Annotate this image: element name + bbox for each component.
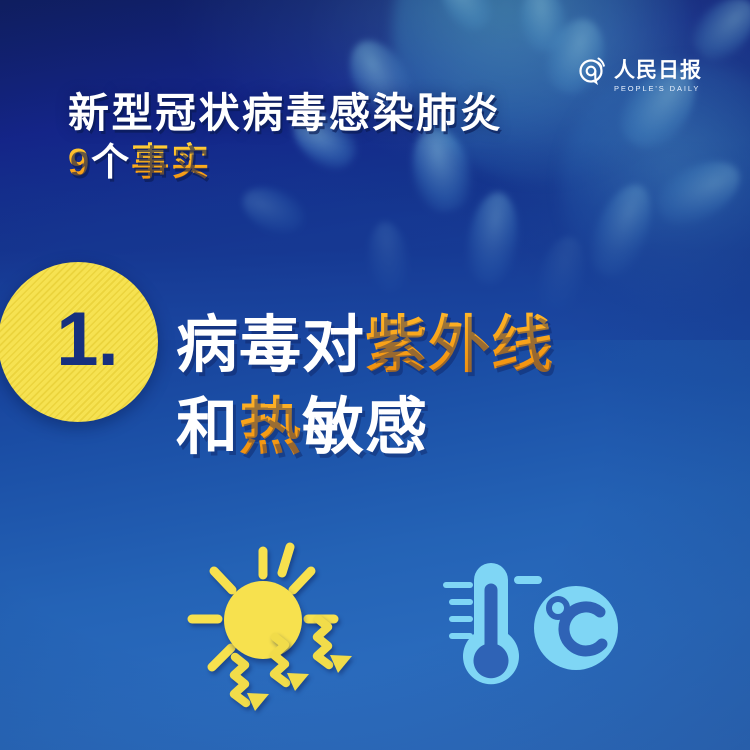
statement-line2-part2: 热: [239, 393, 302, 462]
at-megaphone-icon: [578, 56, 608, 90]
statement-line-1: 病毒对紫外线: [176, 305, 736, 387]
virus-core-blob-secondary: [560, 60, 750, 310]
thermometer-ticks: [446, 585, 470, 636]
sun-uv-rays-icon: [178, 535, 378, 725]
subtitle-number: 9: [68, 142, 91, 184]
logo-english-name: PEOPLE'S DAILY: [614, 85, 702, 93]
statement-line1-part2: 紫外线: [365, 311, 554, 380]
badge-number-label: 1.: [56, 296, 117, 383]
thermometer-celsius-icon: [424, 550, 624, 700]
virus-spike: [364, 220, 411, 294]
main-title: 新型冠状病毒感染肺炎: [68, 92, 568, 135]
subtitle-line: 9个事实: [68, 144, 568, 184]
headline-block: 新型冠状病毒感染肺炎 9个事实: [68, 92, 568, 184]
statement-line2-part1: 和: [176, 393, 239, 462]
peoples-daily-logo: 人民日报 PEOPLE'S DAILY: [578, 56, 702, 93]
thermometer-inner-cutout: [474, 584, 509, 679]
virus-spike: [430, 0, 501, 39]
subtitle-measure-word: 个: [91, 142, 131, 184]
statement-line1-part1: 病毒对: [176, 311, 365, 380]
fact-number-badge: 1.: [0, 262, 158, 422]
virus-spike: [235, 178, 311, 242]
virus-spike: [532, 232, 593, 314]
statement-line-2: 和热敏感: [176, 387, 736, 469]
virus-spike: [647, 148, 750, 237]
celsius-c-letter: [564, 607, 602, 651]
logo-chinese-name: 人民日报: [614, 60, 702, 81]
poster-root: 人民日报 PEOPLE'S DAILY 新型冠状病毒感染肺炎 9个事实 1. 病…: [0, 0, 750, 750]
virus-spike: [462, 189, 524, 287]
degree-symbol: [549, 599, 567, 617]
thermometer-body: [463, 563, 519, 684]
statement-line2-part3: 敏感: [302, 393, 428, 462]
virus-spike: [516, 0, 571, 55]
celsius-disc: [534, 586, 618, 670]
statement-block: 病毒对紫外线 和热敏感: [176, 305, 736, 470]
subtitle-word: 事实: [131, 142, 211, 184]
virus-spike: [580, 176, 664, 284]
